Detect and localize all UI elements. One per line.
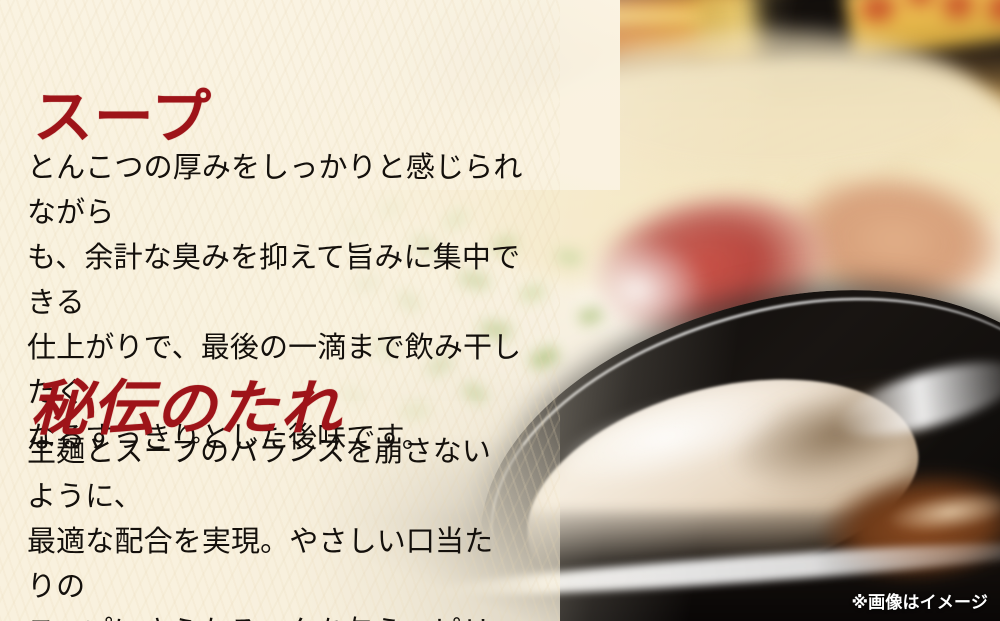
promo-banner: スープ とんこつの厚みをしっかりと感じられながら も、余計な臭みを抑えて旨みに集…: [0, 0, 1000, 621]
section-heading-soup: スープ: [33, 88, 212, 146]
section-body-tare: 生麺とスープのバランスを崩さないように、 最適な配合を実現。やさしい口当たりの …: [27, 429, 517, 621]
text-content: スープ とんこつの厚みをしっかりと感じられながら も、余計な臭みを抑えて旨みに集…: [0, 0, 1000, 621]
image-disclaimer-caption: ※画像はイメージ: [851, 588, 988, 613]
